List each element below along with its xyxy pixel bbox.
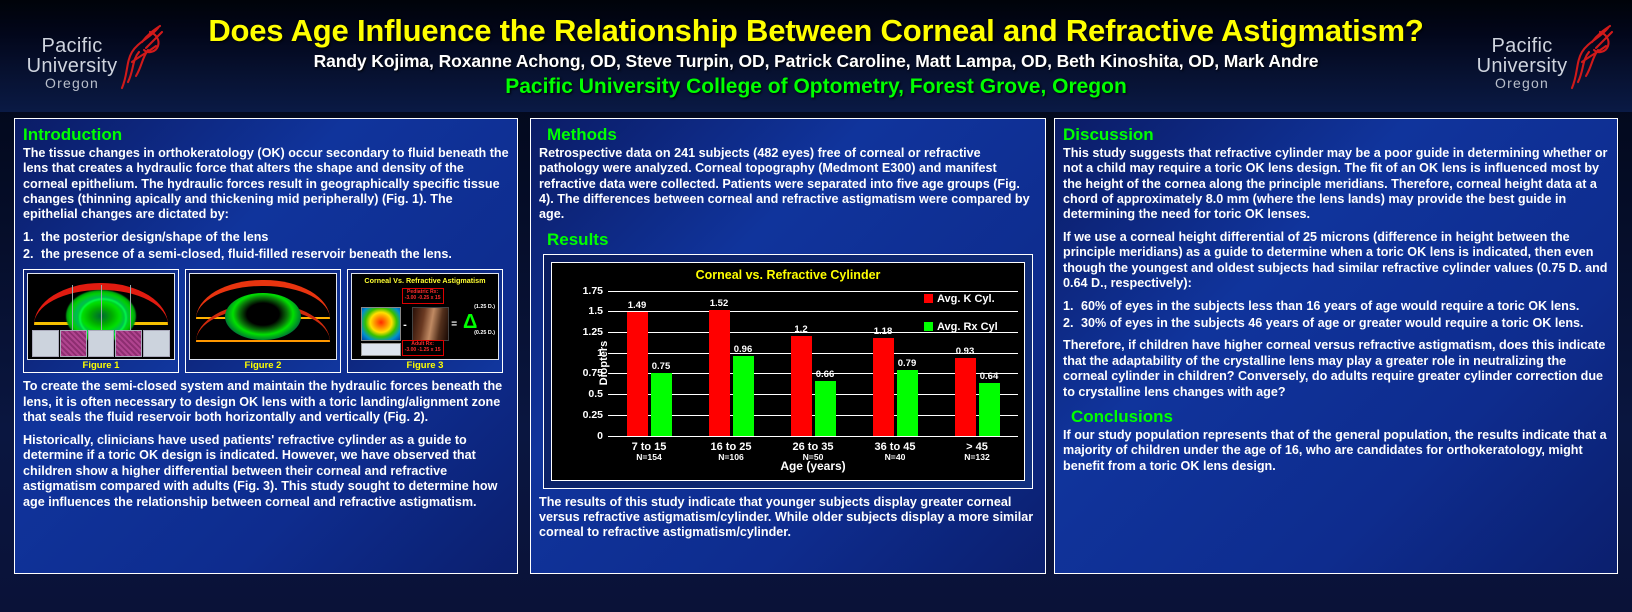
chart-y-tick: 0.25	[583, 409, 603, 421]
logo-line-1: Pacific	[20, 36, 124, 56]
chart-x-tick-range: > 45	[936, 441, 1018, 453]
list-item-number: 1.	[23, 230, 41, 246]
figure-3: Corneal Vs. Refractive Astigmatism - = Δ…	[347, 269, 503, 373]
poster-title: Does Age Influence the Relationship Betw…	[160, 14, 1472, 47]
fluorescein-pattern	[225, 293, 301, 340]
chart-legend: Avg. K Cyl. Avg. Rx Cyl	[924, 293, 1020, 349]
introduction-content: Introduction The tissue changes in ortho…	[15, 119, 517, 521]
legend-swatch-icon	[924, 322, 933, 331]
chart-bar-value-label: 1.2	[794, 324, 807, 335]
chart-bar-rx: 0.75	[651, 373, 672, 435]
figure-3-canvas: Corneal Vs. Refractive Astigmatism - = Δ…	[352, 274, 498, 359]
title-block: Does Age Influence the Relationship Betw…	[160, 14, 1472, 98]
methods-results-content: Methods Retrospective data on 241 subjec…	[531, 119, 1045, 552]
adult-rx-label: Adult Rx: -3.00 -1.25 x 15	[402, 340, 444, 356]
patient-photo	[412, 307, 449, 341]
chart-x-tick-range: 16 to 25	[690, 441, 772, 453]
chart-bar-k: 0.93	[955, 358, 976, 435]
delta-lower-value: (0.25 D.)	[474, 330, 495, 336]
author-list: Randy Kojima, Roxanne Achong, OD, Steve …	[160, 52, 1472, 71]
figure-3-caption: Figure 3	[351, 360, 499, 372]
list-item-label: 30% of eyes in the subjects 46 years of …	[1081, 316, 1584, 330]
section-heading-conclusions: Conclusions	[1071, 407, 1609, 427]
introduction-list: 1.the posterior design/shape of the lens…	[23, 230, 509, 262]
list-item-number: 2.	[1063, 316, 1081, 332]
chart-bar-value-label: 1.49	[628, 300, 647, 311]
chart-x-tick-range: 7 to 15	[608, 441, 690, 453]
section-heading-introduction: Introduction	[23, 125, 509, 145]
logo-line-1-right: Pacific	[1470, 36, 1574, 56]
minus-sign: -	[403, 319, 407, 331]
adult-rx-value: -3.00 -1.25 x 15	[405, 347, 441, 353]
section-heading-results: Results	[547, 230, 1037, 250]
figure-3-image: Corneal Vs. Refractive Astigmatism - = Δ…	[351, 273, 499, 360]
logo-line-3-right: Oregon	[1470, 76, 1574, 90]
methods-paragraph: Retrospective data on 241 subjects (482 …	[539, 146, 1037, 223]
list-item-number: 2.	[23, 247, 41, 263]
chart-title: Corneal vs. Refractive Cylinder	[552, 268, 1024, 282]
bar-chart: Corneal vs. Refractive Cylinder Diopters…	[551, 262, 1025, 481]
logo-pacific-university-right: Pacific University Oregon	[1466, 20, 1616, 100]
figure-1-image	[27, 273, 175, 360]
introduction-paragraph-3: Historically, clinicians have used patie…	[23, 433, 509, 510]
logo-line-2: University	[20, 56, 124, 76]
discussion-paragraph-1: This study suggests that refractive cyli…	[1063, 146, 1609, 223]
chart-bar-k: 1.52	[709, 310, 730, 436]
legend-label: Avg. Rx Cyl	[937, 321, 998, 333]
column-methods-results: Methods Retrospective data on 241 subjec…	[530, 118, 1046, 574]
chart-bar-rx: 0.66	[815, 381, 836, 436]
column-introduction: Introduction The tissue changes in ortho…	[14, 118, 518, 574]
affiliation: Pacific University College of Optometry,…	[160, 75, 1472, 98]
legend-item-rx-cyl: Avg. Rx Cyl	[924, 321, 1020, 333]
delta-symbol: Δ	[463, 312, 477, 332]
chart-y-tick: 1.5	[588, 305, 603, 317]
chart-bar-value-label: 1.18	[874, 326, 893, 337]
chart-y-tick: 1.75	[583, 285, 603, 297]
chart-bar-rx: 0.79	[897, 370, 918, 435]
list-item-label: the presence of a semi-closed, fluid-fil…	[41, 247, 452, 261]
introduction-paragraph-1: The tissue changes in orthokeratology (O…	[23, 146, 509, 223]
figure-1: Figure 1	[23, 269, 179, 373]
boxer-mascot-icon-right	[1562, 22, 1614, 92]
chart-y-tick: 1	[597, 347, 603, 359]
chart-y-tick: 1.25	[583, 326, 603, 338]
list-item: 1.60% of eyes in the subjects less than …	[1063, 299, 1609, 315]
poster-root: Pacific University Oregon Does Age Influ…	[0, 0, 1632, 612]
list-item: 2.30% of eyes in the subjects 46 years o…	[1063, 316, 1609, 332]
chart-bar-group: 1.520.9616 to 25N=106	[690, 291, 772, 436]
discussion-paragraph-3: Therefore, if children have higher corne…	[1063, 338, 1609, 400]
chart-bar-value-label: 0.96	[734, 344, 753, 355]
list-item: 2.the presence of a semi-closed, fluid-f…	[23, 247, 509, 263]
figure-2-caption: Figure 2	[189, 360, 337, 372]
figure-3-title: Corneal Vs. Refractive Astigmatism	[352, 277, 498, 285]
chart-x-tick-range: 36 to 45	[854, 441, 936, 453]
logo-pacific-university-left: Pacific University Oregon	[16, 20, 166, 100]
chart-bar-rx: 0.96	[733, 356, 754, 436]
equals-sign: =	[451, 319, 457, 330]
discussion-list: 1.60% of eyes in the subjects less than …	[1063, 299, 1609, 331]
logo-line-3: Oregon	[20, 76, 124, 90]
chart-bar-value-label: 0.79	[898, 358, 917, 369]
chart-bar-value-label: 0.64	[980, 371, 999, 382]
topography-map-icon	[361, 307, 401, 341]
legend-swatch-icon	[924, 294, 933, 303]
chart-bar-k: 1.18	[873, 338, 894, 436]
results-caption: The results of this study indicate that …	[539, 495, 1037, 541]
pediatric-rx-value: -3.00 -0.25 x 15	[405, 295, 441, 301]
chart-frame: Corneal vs. Refractive Cylinder Diopters…	[543, 254, 1033, 489]
section-heading-methods: Methods	[547, 125, 1037, 145]
chart-bar-rx: 0.64	[979, 383, 1000, 436]
epithelium-histology-strip	[32, 330, 169, 357]
figure-2: Figure 2	[185, 269, 341, 373]
pediatric-rx-label: Pediatric Rx: -3.00 -0.25 x 15	[402, 288, 444, 304]
figure-2-image	[189, 273, 337, 360]
chart-y-tick: 0.5	[588, 388, 603, 400]
chart-x-tick-range: 26 to 35	[772, 441, 854, 453]
list-item-label: the posterior design/shape of the lens	[41, 230, 268, 244]
chart-bar-group: 1.490.757 to 15N=154	[608, 291, 690, 436]
chart-bar-k: 1.49	[627, 312, 648, 435]
chart-x-axis-label: Age (years)	[608, 459, 1018, 473]
delta-upper-value: (1.25 D.)	[474, 304, 495, 310]
boxer-mascot-icon	[112, 22, 164, 92]
logo-wordmark-right: Pacific University Oregon	[1470, 36, 1574, 90]
chart-y-tick: 0	[597, 430, 603, 442]
figure-row: Figure 1 Figure 2 Corneal Vs. Refra	[23, 269, 509, 373]
column-discussion-conclusions: Discussion This study suggests that refr…	[1054, 118, 1618, 574]
chart-bar-value-label: 0.66	[816, 369, 835, 380]
chart-y-tick: 0.75	[583, 367, 603, 379]
list-item: 1.the posterior design/shape of the lens	[23, 230, 509, 246]
list-item-number: 1.	[1063, 299, 1081, 315]
chart-bar-value-label: 1.52	[710, 298, 729, 309]
logo-wordmark: Pacific University Oregon	[20, 36, 124, 90]
legend-label: Avg. K Cyl.	[937, 293, 995, 305]
section-heading-discussion: Discussion	[1063, 125, 1609, 145]
figure-1-caption: Figure 1	[27, 360, 175, 372]
logo-line-2-right: University	[1470, 56, 1574, 76]
chart-bar-k: 1.2	[791, 336, 812, 435]
conclusions-paragraph: If our study population represents that …	[1063, 428, 1609, 474]
poster-header: Pacific University Oregon Does Age Influ…	[0, 0, 1632, 112]
list-item-label: 60% of eyes in the subjects less than 16…	[1081, 299, 1579, 313]
topography-data-table	[361, 343, 401, 357]
discussion-content: Discussion This study suggests that refr…	[1055, 119, 1617, 485]
chart-gridline	[608, 436, 1018, 438]
chart-bar-group: 1.20.6626 to 35N=50	[772, 291, 854, 436]
legend-item-k-cyl: Avg. K Cyl.	[924, 293, 1020, 305]
discussion-paragraph-2: If we use a corneal height differential …	[1063, 230, 1609, 292]
introduction-paragraph-2: To create the semi-closed system and mai…	[23, 379, 509, 425]
chart-bar-value-label: 0.75	[652, 361, 671, 372]
